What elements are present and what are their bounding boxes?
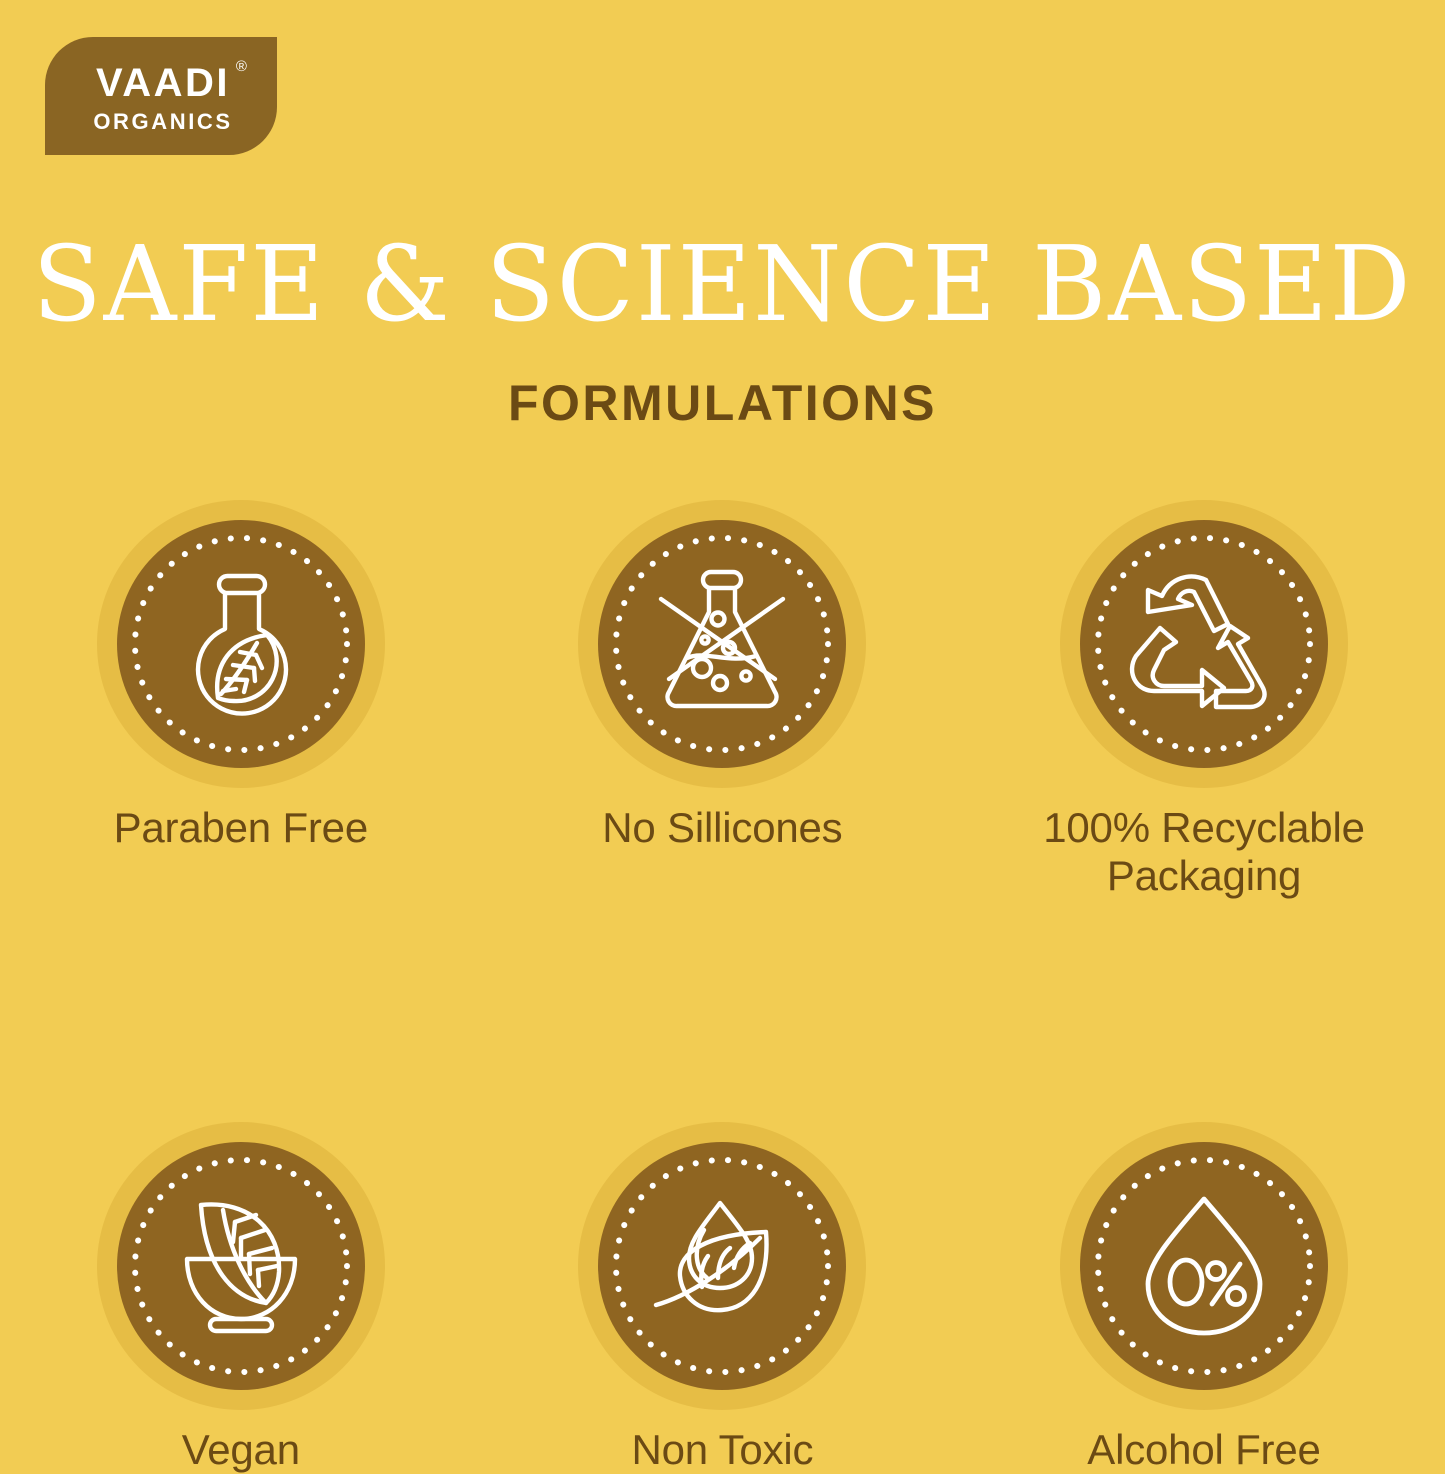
page-headline: SAFE & SCIENCE BASED	[22, 232, 1424, 336]
badge-label: No Sillicones	[507, 804, 937, 852]
flask-leaf-icon	[161, 564, 321, 724]
badge-disc	[117, 520, 365, 768]
page-subheadline: FORMULATIONS	[0, 378, 1445, 428]
droplet-zero-percent-icon	[1124, 1186, 1284, 1346]
badge-cell-no-sillicones[interactable]: No Sillicones	[482, 500, 964, 900]
registered-trademark-icon: ®	[236, 59, 247, 74]
brand-name-text: VAADI	[96, 61, 230, 105]
brand-logo: VAADI ® ORGANICS	[45, 37, 277, 155]
badge-cell-paraben-free[interactable]: Paraben Free	[0, 500, 482, 900]
badge-label: Vegan	[26, 1426, 456, 1474]
feature-badge-grid: Paraben Free	[0, 500, 1445, 1474]
bowl-leaf-icon	[161, 1186, 321, 1346]
badge-cell-vegan[interactable]: Vegan	[0, 1122, 482, 1474]
badge-cell-non-toxic[interactable]: Non Toxic	[482, 1122, 964, 1474]
badge-ring	[578, 1122, 866, 1410]
badge-label: Alcohol Free	[989, 1426, 1419, 1474]
badge-label: 100% Recyclable Packaging	[989, 804, 1419, 900]
badge-ring	[1060, 500, 1348, 788]
flask-crossed-out-icon	[642, 564, 802, 724]
badge-row-2: Vegan	[0, 1122, 1445, 1474]
badge-disc	[1080, 1142, 1328, 1390]
badge-ring	[97, 500, 385, 788]
badge-row-1: Paraben Free	[0, 500, 1445, 900]
brand-name: VAADI ®	[92, 63, 230, 103]
badge-disc	[1080, 520, 1328, 768]
badge-cell-recyclable-packaging[interactable]: 100% Recyclable Packaging	[963, 500, 1445, 900]
badge-disc	[117, 1142, 365, 1390]
badge-ring	[97, 1122, 385, 1410]
badge-ring	[1060, 1122, 1348, 1410]
badge-label: Non Toxic	[507, 1426, 937, 1474]
badge-disc	[598, 520, 846, 768]
badge-ring	[578, 500, 866, 788]
badge-label: Paraben Free	[26, 804, 456, 852]
brand-tagline: ORGANICS	[89, 111, 232, 133]
badge-disc	[598, 1142, 846, 1390]
recycle-icon	[1124, 564, 1284, 724]
badge-cell-alcohol-free[interactable]: Alcohol Free	[963, 1122, 1445, 1474]
droplet-leaf-icon	[642, 1186, 802, 1346]
